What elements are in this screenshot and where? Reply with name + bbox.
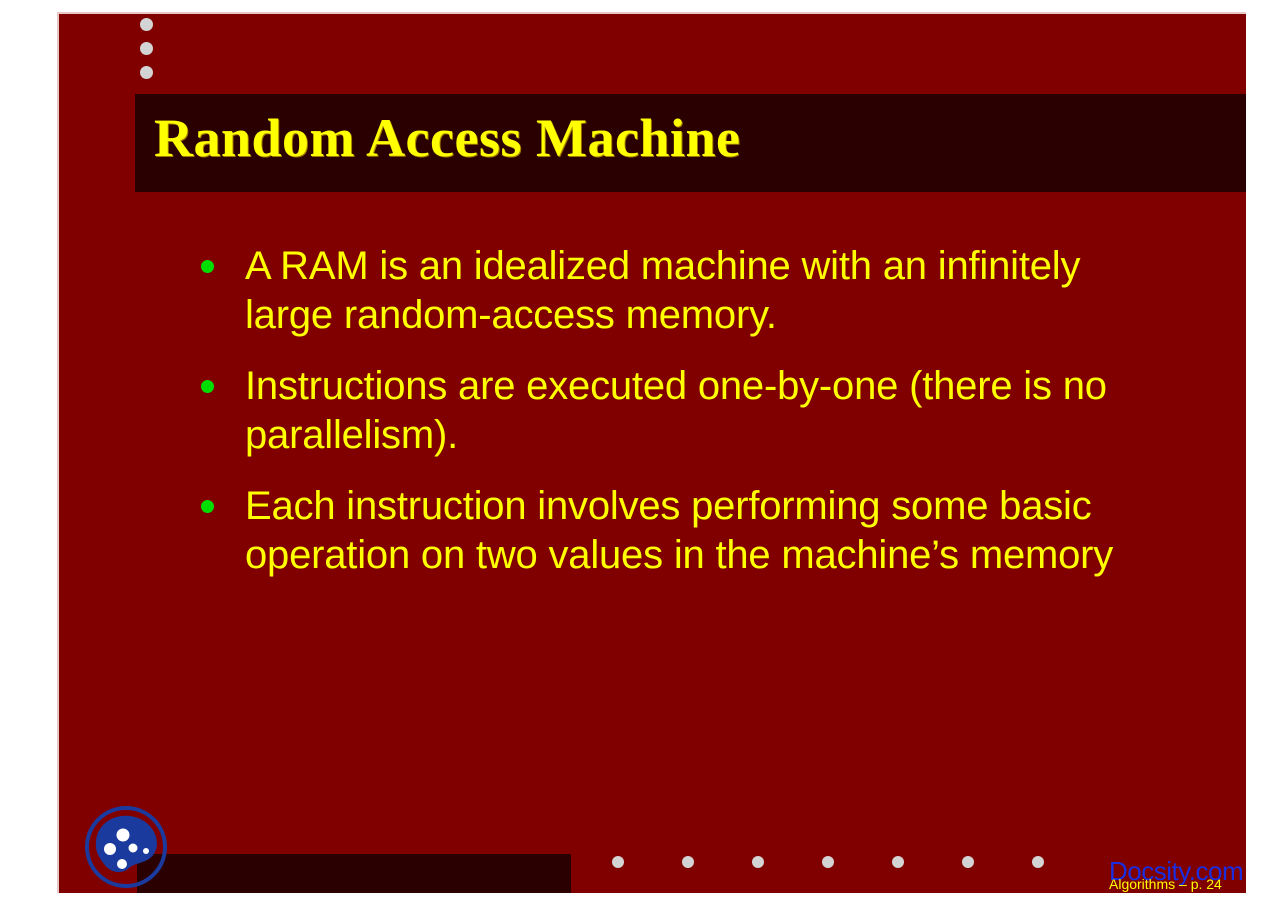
slide-canvas: Random Access Machine A RAM is an ideali… <box>57 12 1246 893</box>
bottom-band <box>137 854 571 893</box>
decor-dot-bottom-4 <box>822 856 834 868</box>
bullet-text: Each instruction involves performing som… <box>245 482 1117 580</box>
decor-dot-top-3 <box>140 66 153 79</box>
decor-dot-bottom-7 <box>1032 856 1044 868</box>
list-item: A RAM is an idealized machine with an in… <box>187 242 1117 340</box>
list-item: Each instruction involves performing som… <box>187 482 1117 580</box>
bullet-dot-icon <box>201 260 214 273</box>
bullet-text: Instructions are executed one-by-one (th… <box>245 362 1117 460</box>
bullet-dot-icon <box>201 500 214 513</box>
decor-dot-bottom-3 <box>752 856 764 868</box>
footer-page-note: Algorithms – p. 24 <box>1109 876 1222 892</box>
decor-dot-bottom-5 <box>892 856 904 868</box>
page-title: Random Access Machine <box>154 107 740 169</box>
list-item: Instructions are executed one-by-one (th… <box>187 362 1117 460</box>
bullet-list: A RAM is an idealized machine with an in… <box>187 242 1117 580</box>
title-band: Random Access Machine <box>135 94 1246 192</box>
decor-dot-bottom-6 <box>962 856 974 868</box>
bullet-dot-icon <box>201 380 214 393</box>
slide-root: Random Access Machine A RAM is an ideali… <box>0 0 1280 905</box>
decor-dot-bottom-1 <box>612 856 624 868</box>
decor-dot-top-1 <box>140 18 153 31</box>
decor-dot-bottom-2 <box>682 856 694 868</box>
decor-dot-top-2 <box>140 42 153 55</box>
bullet-text: A RAM is an idealized machine with an in… <box>245 242 1117 340</box>
southern-cross-logo <box>83 804 169 890</box>
